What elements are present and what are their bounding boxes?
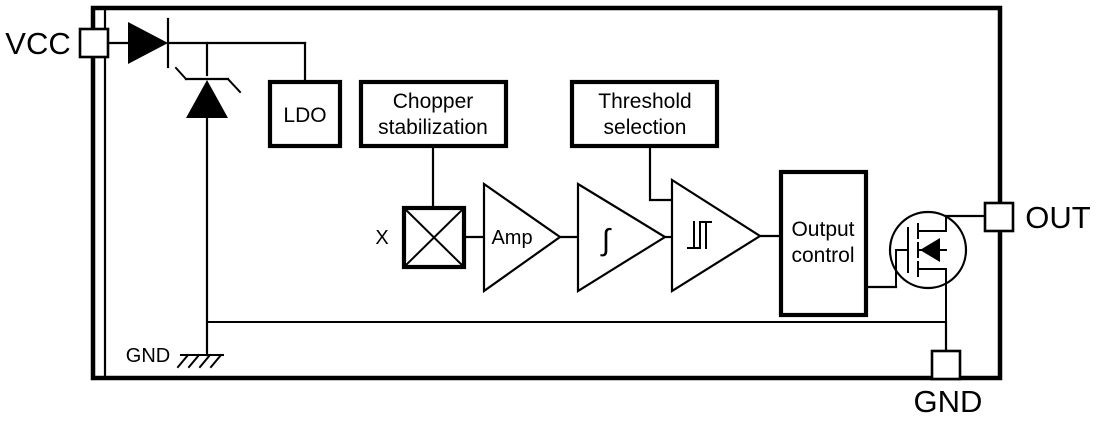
block-chopper-label-line1: Chopper: [393, 90, 474, 113]
reverse-protection-diode-body: [128, 22, 168, 64]
integrator-label: ∫: [600, 224, 612, 257]
block-threshold-label-line1: Threshold: [598, 90, 691, 113]
pin-gnd-label: GND: [914, 384, 983, 419]
hall-element-label: X: [375, 227, 388, 249]
output-mosfet-source-lead: [918, 269, 946, 320]
block-threshold-label-line2: selection: [604, 116, 687, 139]
pin-vcc-box: [80, 29, 108, 57]
block-diagram: LDO Chopper stabilization Threshold sele…: [0, 0, 1100, 422]
pin-vcc-label: VCC: [5, 26, 70, 61]
zener-cathode-bend-left: [176, 68, 186, 79]
zener-cathode-bend-right: [228, 79, 240, 92]
amplifier-label: Amp: [491, 227, 532, 249]
comparator-triangle[interactable]: [672, 180, 760, 291]
output-mosfet-drain-lead: [918, 216, 946, 231]
wire-threshold-to-comparator: [650, 146, 672, 200]
block-ldo-label: LDO: [283, 104, 326, 127]
block-output-control-label-line2: control: [791, 244, 854, 267]
internal-ground-symbol: [178, 355, 223, 367]
zener-clamp-diode-body: [186, 80, 228, 118]
internal-ground-label: GND: [126, 345, 170, 367]
pin-gnd-box: [932, 351, 960, 379]
pin-out-box: [985, 203, 1013, 231]
output-mosfet-body-arrow: [920, 238, 940, 262]
block-chopper-label-line2: stabilization: [378, 116, 488, 139]
block-output-control-label-line1: Output: [791, 218, 854, 241]
pin-out-label: OUT: [1025, 200, 1091, 235]
